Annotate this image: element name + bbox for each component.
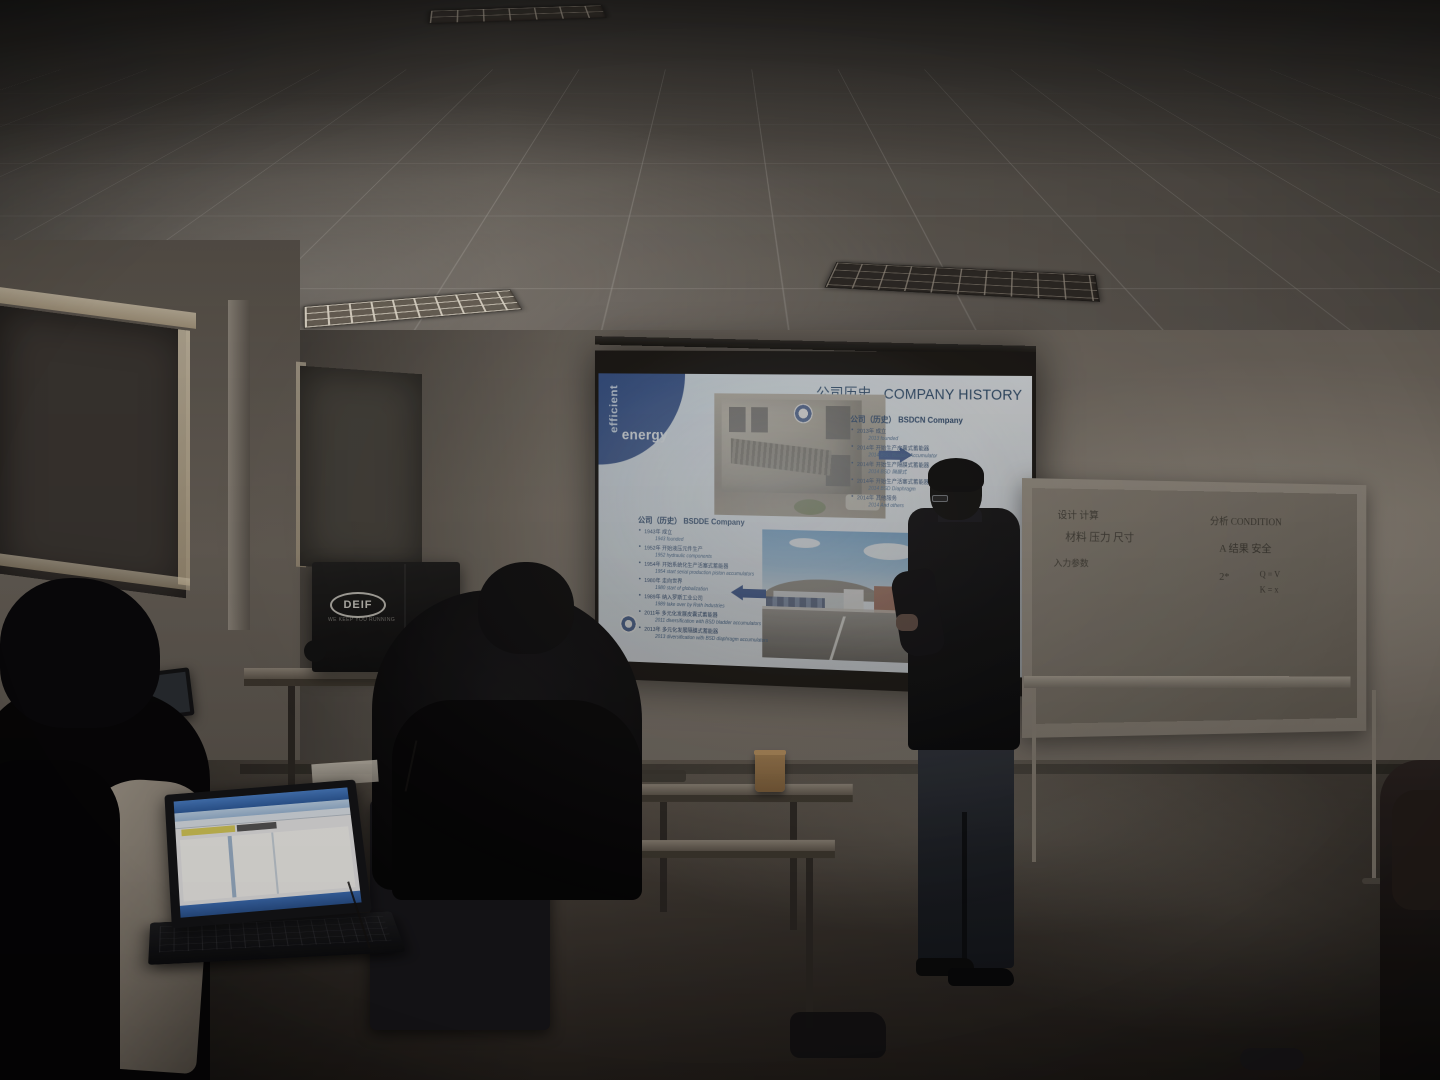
laptop[interactable]: [164, 780, 372, 929]
logo-word-efficient: efficient: [607, 385, 620, 433]
slide-left-column: 公司（历史） BSDDE Company 1943年 成立 1943 found…: [638, 515, 789, 648]
bag-on-floor[interactable]: [790, 1012, 886, 1058]
presenter-leg-gap: [962, 812, 967, 968]
roller-blind-left[interactable]: [0, 306, 186, 598]
list-item: 2013年 成立 2013 founded: [850, 428, 1024, 446]
whiteboard-leg: [1032, 688, 1036, 864]
slide-title-en: COMPANY HISTORY: [884, 387, 1023, 404]
whiteboard-note: 2*: [1219, 571, 1229, 583]
left-column-list: 1943年 成立 1943 founded 1952年 开始液压元件生产 195…: [638, 528, 789, 646]
whiteboard-note: K = x: [1260, 585, 1279, 595]
attendee-center-head: [478, 562, 574, 654]
whiteboard-surface[interactable]: 设计 计算 材料 压力 尺寸 入力参数 分析 CONDITION A 结果 安全…: [1032, 488, 1357, 724]
whiteboard[interactable]: 设计 计算 材料 压力 尺寸 入力参数 分析 CONDITION A 结果 安全…: [1022, 478, 1392, 738]
shoe-on-floor: [1240, 1048, 1304, 1070]
deif-tagline: WE KEEP YOU RUNNING: [328, 617, 395, 623]
desk-leg: [806, 858, 813, 1028]
building-emblem-icon: [794, 404, 813, 424]
table-leg: [288, 686, 295, 794]
presenter-shoe: [948, 968, 1014, 986]
roller-blind-mid[interactable]: [300, 366, 422, 575]
list-item: 2014年 开始生产皮囊式蓄能器 2014 BSD Bladder Accumu…: [850, 444, 1024, 462]
building-facade: [722, 399, 862, 494]
shrub: [794, 499, 826, 515]
right-column-heading: 公司（历史） BSDCN Company: [850, 414, 1024, 427]
paper-cup[interactable]: [755, 752, 785, 792]
attendee-center-shoulders: [392, 700, 642, 900]
whiteboard-caster: [1022, 862, 1048, 868]
building-canopy: [731, 438, 832, 476]
attendee-foreground-head: [0, 578, 160, 728]
whiteboard-note: 入力参数: [1054, 556, 1089, 569]
company-logo: efficient: [599, 373, 686, 466]
slide-footer-emblem-icon: [620, 615, 637, 634]
case-handle[interactable]: [304, 640, 326, 662]
whiteboard-note: A 结果 安全: [1219, 540, 1271, 556]
front-desk: [642, 784, 853, 802]
desk-object[interactable]: [640, 770, 686, 782]
whiteboard-note: 材料 压力 尺寸: [1065, 528, 1134, 545]
whiteboard-marker-tray: [1024, 676, 1351, 688]
logo-word-energy: energy: [622, 427, 668, 444]
whiteboard-note: 分析 CONDITION: [1210, 513, 1282, 529]
attendee-right-edge-arm: [1392, 790, 1440, 910]
deif-logo: DEIF: [330, 592, 386, 618]
presenter-glasses-icon: [932, 495, 948, 502]
whiteboard-note: 设计 计算: [1058, 506, 1099, 522]
presenter-hand: [896, 614, 918, 631]
attendee-foreground-shoulder: [0, 760, 120, 1080]
laptop-screen[interactable]: [174, 787, 362, 917]
conference-room-photo: efficient energy 公司历史 COMPANY HISTORY: [0, 0, 1440, 1080]
window-light-leak: [178, 329, 190, 585]
presenter-hair: [928, 458, 984, 492]
desk-leg: [790, 802, 797, 930]
wall-column: [228, 300, 250, 630]
left-column-heading: 公司（历史） BSDDE Company: [638, 515, 789, 529]
whiteboard-leg: [1372, 690, 1376, 880]
document-area: [180, 826, 356, 901]
whiteboard-note: Q = V: [1260, 569, 1280, 579]
